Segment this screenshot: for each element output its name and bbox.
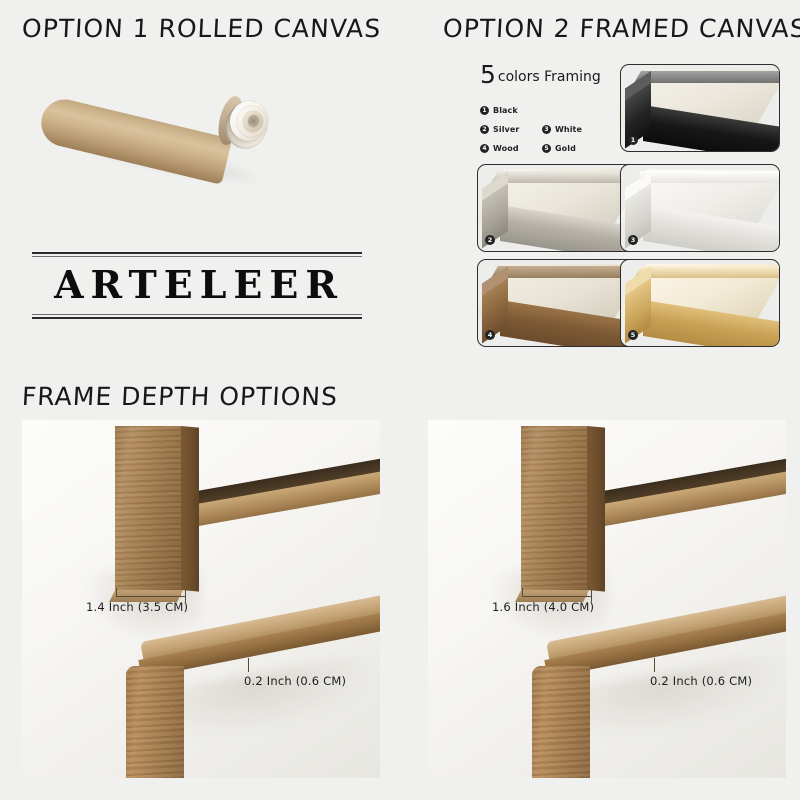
legend-item-black: 1 Black <box>480 106 542 115</box>
canvas-strip-cap <box>126 666 184 778</box>
legend-label-5: Gold <box>555 144 576 153</box>
rolled-canvas-image <box>34 68 269 193</box>
frame-swatch-gold[interactable]: 5 <box>620 259 780 347</box>
legend-badge-1: 1 <box>480 106 489 115</box>
wall-shadow <box>574 652 786 748</box>
legend-badge-3: 3 <box>542 125 551 134</box>
dimension-line-thickness <box>654 658 655 672</box>
frame-corner-illustration <box>621 65 779 151</box>
framing-title-text: colors Framing <box>498 69 601 85</box>
dimension-line-thickness <box>248 658 249 672</box>
frame-depth-photo-shallow: 1.4 Inch (3.5 CM) 0.2 Inch (0.6 CM) <box>22 420 380 778</box>
legend-spacer <box>542 106 604 115</box>
legend-badge-2: 2 <box>480 125 489 134</box>
brand-wordmark: ARTELEER <box>32 257 362 314</box>
dimension-tick-left <box>116 588 117 597</box>
frame-leg-face <box>521 426 587 596</box>
logo-rule-bottom <box>32 314 362 319</box>
swatch-badge-4: 4 <box>485 330 495 340</box>
legend-item-gold: 5 Gold <box>542 144 604 153</box>
framing-legend-title: 5colors Framing <box>480 62 610 87</box>
option1-heading: OPTION 1 ROLLED CANVAS <box>21 14 382 43</box>
swatch-badge-1: 1 <box>628 135 638 145</box>
framing-colors-legend: 5colors Framing 1 Black 2 Silver 3 White… <box>480 62 610 153</box>
legend-label-1: Black <box>493 106 518 115</box>
swatch-badge-5: 5 <box>628 330 638 340</box>
frame-corner-illustration <box>621 260 779 346</box>
frame-swatch-black[interactable]: 1 <box>620 64 780 152</box>
frame-swatch-white[interactable]: 3 <box>620 164 780 252</box>
canvas-strip-cap <box>532 666 590 778</box>
legend-badge-4: 4 <box>480 144 489 153</box>
legend-label-2: Silver <box>493 125 519 134</box>
depth-dimension-label: 1.6 Inch (4.0 CM) <box>492 600 594 614</box>
frame-swatch-silver[interactable]: 2 <box>477 164 637 252</box>
frame-depth-heading: FRAME DEPTH OPTIONS <box>21 382 338 411</box>
legend-item-white: 3 White <box>542 125 604 134</box>
depth-dimension-label: 1.4 Inch (3.5 CM) <box>86 600 188 614</box>
frame-corner-illustration <box>478 165 636 251</box>
legend-item-silver: 2 Silver <box>480 125 542 134</box>
legend-item-wood: 4 Wood <box>480 144 542 153</box>
wall-shadow <box>168 652 380 748</box>
framing-legend-list: 1 Black 2 Silver 3 White 4 Wood 5 Gold <box>480 106 610 153</box>
swatch-badge-2: 2 <box>485 235 495 245</box>
frame-leg-side <box>587 426 605 592</box>
option2-heading: OPTION 2 FRAMED CANVAS <box>442 14 800 43</box>
thickness-dimension-label: 0.2 Inch (0.6 CM) <box>244 674 346 688</box>
frame-swatch-wood[interactable]: 4 <box>477 259 637 347</box>
framing-count: 5 <box>480 60 496 89</box>
frame-depth-photo-deep: 1.6 Inch (4.0 CM) 0.2 Inch (0.6 CM) <box>428 420 786 778</box>
thickness-dimension-label: 0.2 Inch (0.6 CM) <box>650 674 752 688</box>
dimension-line-depth <box>116 596 186 597</box>
legend-label-4: Wood <box>493 144 519 153</box>
legend-label-3: White <box>555 125 582 134</box>
frame-corner-illustration <box>478 260 636 346</box>
tube-body <box>37 95 233 185</box>
frame-corner-illustration <box>621 165 779 251</box>
frame-leg-face <box>115 426 181 596</box>
frame-leg-side <box>181 426 199 592</box>
legend-badge-5: 5 <box>542 144 551 153</box>
dimension-tick-left <box>522 588 523 597</box>
brand-logo: ARTELEER <box>32 252 362 319</box>
swatch-badge-3: 3 <box>628 235 638 245</box>
dimension-line-depth <box>522 596 592 597</box>
